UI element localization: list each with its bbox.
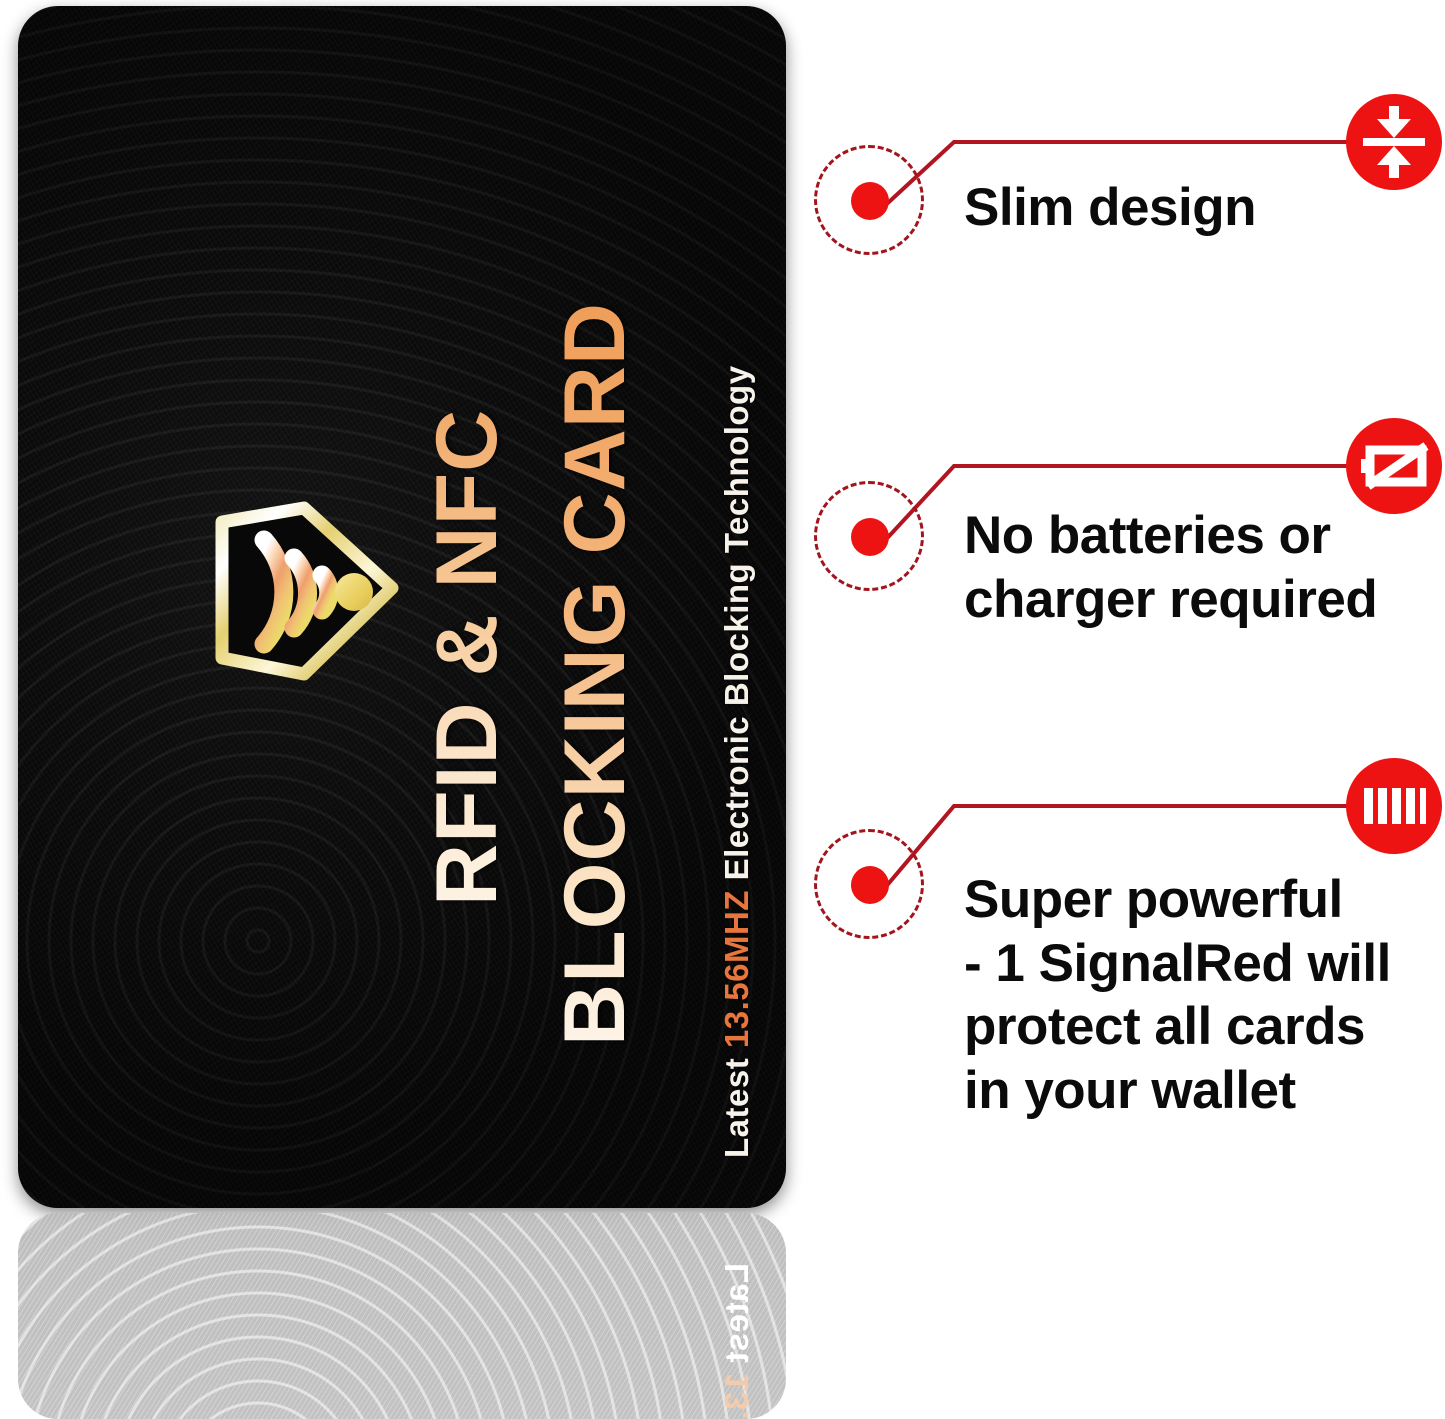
feature-line: protect all cards — [964, 995, 1391, 1059]
callout-marker-slim-design — [814, 145, 932, 263]
card-tagline: Latest 13.56MHZ Electronic Blocking Tech… — [718, 365, 756, 1158]
marker-dot — [851, 866, 889, 904]
no-battery-glyph — [1346, 418, 1442, 514]
compress-arrows-icon — [1346, 94, 1442, 190]
feature-line: - 1 SignalRed will — [964, 932, 1391, 996]
card-title-blocking-card: BLOCKING CARD — [546, 302, 645, 1046]
card-reflection: Latest 13.56MHZ Electronic Blocking Tech… — [18, 1213, 786, 1419]
feature-line: charger required — [964, 568, 1377, 632]
no-battery-icon — [1346, 418, 1442, 514]
feature-label-no-batteries: No batteries or charger required — [964, 504, 1377, 631]
tagline-suffix: Electronic Blocking Technology — [718, 365, 755, 890]
tagline-frequency: 13.56MHZ — [718, 890, 755, 1048]
card-reflection-face: Latest 13.56MHZ Electronic Blocking Tech… — [18, 1213, 786, 1419]
rfid-signal-shield-logo — [186, 476, 410, 708]
marker-dot — [851, 518, 889, 556]
tagline-prefix: Latest — [718, 1048, 755, 1158]
feature-label-slim-design: Slim design — [964, 176, 1256, 240]
feature-label-super-powerful: Super powerful - 1 SignalRed will protec… — [964, 868, 1391, 1122]
feature-line: Super powerful — [964, 868, 1391, 932]
marker-dot — [851, 182, 889, 220]
callout-marker-no-batteries — [814, 481, 932, 599]
feature-line: in your wallet — [964, 1059, 1391, 1123]
callout-marker-super-powerful — [814, 829, 932, 947]
signal-bars-icon — [1346, 758, 1442, 854]
feature-line: Slim design — [964, 176, 1256, 240]
signal-bars-glyph — [1346, 758, 1442, 854]
logo-svg — [186, 476, 410, 708]
product-feature-graphic: RFID & NFC BLOCKING CARD Latest 13.56MHZ… — [0, 0, 1445, 1419]
reflection-fade-overlay — [18, 1213, 786, 1419]
feature-line: No batteries or — [964, 504, 1377, 568]
card-face: RFID & NFC BLOCKING CARD Latest 13.56MHZ… — [18, 6, 786, 1208]
rfid-blocking-card: RFID & NFC BLOCKING CARD Latest 13.56MHZ… — [18, 6, 786, 1208]
logo-wave-dot — [335, 573, 373, 611]
card-title-rfid-nfc: RFID & NFC — [418, 409, 517, 906]
compress-arrows-glyph — [1346, 94, 1442, 190]
logo-wave-arc-inner — [322, 575, 329, 610]
